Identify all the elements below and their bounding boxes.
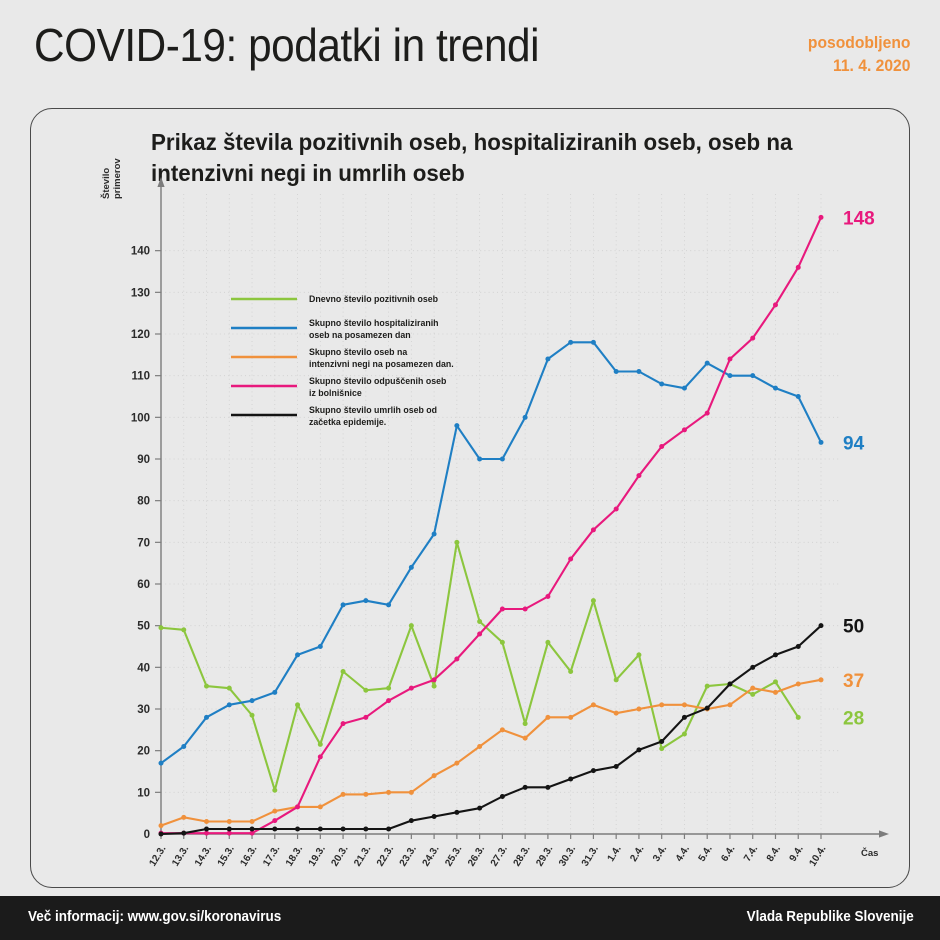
series-point [750, 336, 755, 341]
legend-label-3: Skupno število oseb na [309, 347, 407, 357]
x-tick-label: 12.3. [147, 844, 168, 869]
series-point [477, 619, 482, 624]
series-point [705, 706, 710, 711]
series-point [386, 686, 391, 691]
footer-org: Vlada Republike Slovenije [747, 909, 914, 925]
series-point [363, 715, 368, 720]
page-title: COVID-19: podatki in trendi [34, 18, 539, 72]
chart-area: 010203040506070809010011012013014012.3.1… [31, 109, 911, 889]
series-point [181, 815, 186, 820]
series-point [272, 809, 277, 814]
y-tick-label: 60 [137, 579, 150, 591]
series-end-label-5: 50 [843, 617, 864, 638]
series-point [227, 827, 232, 832]
x-axis-arrow [879, 830, 889, 837]
series-point [318, 742, 323, 747]
legend-label-4-line2: iz bolnišnice [309, 388, 362, 398]
series-point [682, 715, 687, 720]
y-tick-label: 30 [137, 704, 150, 716]
x-tick-label: 1.4. [606, 844, 624, 864]
series-point [705, 411, 710, 416]
x-tick-label: 5.4. [697, 844, 715, 864]
series-point [159, 832, 164, 837]
series-point [386, 698, 391, 703]
series-point [181, 831, 186, 836]
chart-gridlines [161, 194, 841, 834]
series-point [523, 415, 528, 420]
last-updated-date: 11. 4. 2020 [807, 55, 910, 78]
series-point [614, 764, 619, 769]
series-point [545, 640, 550, 645]
series-point [568, 669, 573, 674]
series-3[interactable]: 37 [159, 671, 865, 828]
y-tick-label: 90 [137, 454, 150, 466]
x-tick-label: 22.3. [375, 844, 396, 869]
series-point [363, 688, 368, 693]
chart-legend: Dnevno število pozitivnih osebSkupno šte… [231, 294, 454, 427]
series-point [819, 677, 824, 682]
line-chart: 010203040506070809010011012013014012.3.1… [31, 109, 911, 889]
series-point [272, 690, 277, 695]
series-point [682, 427, 687, 432]
series-point [318, 804, 323, 809]
series-point [227, 819, 232, 824]
y-tick-label: 20 [137, 746, 150, 758]
y-tick-label: 130 [131, 287, 150, 299]
x-tick-label: 20.3. [329, 844, 350, 869]
series-point [568, 715, 573, 720]
x-tick-label: 24.3. [421, 844, 442, 869]
series-point [204, 827, 209, 832]
series-point [409, 790, 414, 795]
series-point [568, 777, 573, 782]
series-point [477, 457, 482, 462]
series-point [591, 702, 596, 707]
series-point [363, 792, 368, 797]
series-point [796, 644, 801, 649]
y-tick-label: 110 [131, 371, 150, 383]
series-point [819, 623, 824, 628]
series-point [773, 679, 778, 684]
x-tick-label: 3.4. [651, 844, 669, 864]
series-point [227, 702, 232, 707]
series-point [454, 657, 459, 662]
legend-item-1[interactable]: Dnevno število pozitivnih oseb [231, 294, 439, 304]
series-point [500, 640, 505, 645]
y-tick-label: 10 [137, 787, 150, 799]
x-tick-label: 28.3. [512, 844, 533, 869]
series-point [295, 652, 300, 657]
series-line-3 [161, 680, 821, 826]
last-updated-label: posodobljeno [807, 32, 910, 55]
series-point [819, 440, 824, 445]
y-tick-label: 40 [137, 662, 150, 674]
series-point [636, 747, 641, 752]
chart-axes: 010203040506070809010011012013014012.3.1… [100, 158, 889, 869]
series-point [819, 215, 824, 220]
series-1[interactable]: 28 [159, 540, 865, 793]
legend-item-2[interactable]: Skupno število hospitaliziranihoseb na p… [231, 318, 439, 340]
chart-series-group: 28943714850 [159, 208, 875, 836]
series-point [250, 713, 255, 718]
series-point [523, 736, 528, 741]
x-tick-label: 21.3. [352, 844, 373, 869]
series-point [432, 677, 437, 682]
series-point [614, 711, 619, 716]
series-point [318, 644, 323, 649]
y-tick-label: 70 [137, 537, 150, 549]
series-point [750, 665, 755, 670]
x-tick-label: 19.3. [307, 844, 328, 869]
legend-item-4[interactable]: Skupno število odpuščenih osebiz bolnišn… [231, 376, 447, 398]
series-point [750, 686, 755, 691]
series-point [750, 692, 755, 697]
series-point [727, 702, 732, 707]
y-axis-label-line2: primerov [112, 158, 123, 199]
x-tick-label: 29.3. [534, 844, 555, 869]
series-point [659, 702, 664, 707]
series-point [386, 827, 391, 832]
series-point [341, 827, 346, 832]
x-tick-label: 25.3. [443, 844, 464, 869]
legend-item-5[interactable]: Skupno število umrlih oseb odzačetka epi… [231, 405, 437, 427]
legend-label-5: Skupno število umrlih oseb od [309, 405, 437, 415]
series-point [454, 761, 459, 766]
series-point [409, 623, 414, 628]
page-header: COVID-19: podatki in trendi posodobljeno… [0, 0, 940, 96]
series-point [545, 594, 550, 599]
legend-label-3-line2: intenzivni negi na posamezen dan. [309, 359, 454, 369]
legend-label-2: Skupno število hospitaliziranih [309, 318, 439, 328]
series-point [523, 721, 528, 726]
series-point [250, 819, 255, 824]
series-point [545, 715, 550, 720]
series-end-label-2: 94 [843, 433, 865, 454]
x-axis-label: Čas [861, 847, 878, 859]
series-point [773, 386, 778, 391]
series-point [659, 739, 664, 744]
series-point [614, 507, 619, 512]
series-point [477, 806, 482, 811]
series-point [636, 369, 641, 374]
series-point [705, 684, 710, 689]
series-point [500, 607, 505, 612]
x-tick-label: 18.3. [284, 844, 305, 869]
x-tick-label: 26.3. [466, 844, 487, 869]
series-point [545, 785, 550, 790]
series-point [545, 357, 550, 362]
series-point [363, 827, 368, 832]
series-point [614, 369, 619, 374]
x-tick-label: 27.3. [489, 844, 510, 869]
series-end-label-3: 37 [843, 671, 864, 692]
legend-label-1: Dnevno število pozitivnih oseb [309, 294, 439, 304]
series-point [727, 682, 732, 687]
series-point [295, 702, 300, 707]
series-point [409, 565, 414, 570]
series-point [682, 702, 687, 707]
series-point [250, 827, 255, 832]
last-updated: posodobljeno 11. 4. 2020 [807, 32, 910, 78]
series-point [204, 819, 209, 824]
x-tick-label: 6.4. [719, 844, 737, 864]
footer-more-info[interactable]: Več informacij: www.gov.si/koronavirus [28, 909, 281, 925]
series-point [682, 732, 687, 737]
series-point [659, 444, 664, 449]
series-point [295, 804, 300, 809]
series-point [454, 423, 459, 428]
series-point [500, 794, 505, 799]
page-footer: Več informacij: www.gov.si/koronavirus V… [0, 896, 940, 940]
x-tick-label: 17.3. [261, 844, 282, 869]
series-4[interactable]: 148 [159, 208, 875, 835]
series-point [454, 540, 459, 545]
x-tick-label: 16.3. [238, 844, 259, 869]
y-tick-label: 140 [131, 246, 150, 258]
series-point [432, 814, 437, 819]
series-point [432, 773, 437, 778]
series-point [432, 684, 437, 689]
x-tick-label: 9.4. [788, 844, 806, 864]
chart-card: Prikaz števila pozitivnih oseb, hospital… [30, 108, 910, 888]
series-point [159, 823, 164, 828]
series-point [591, 768, 596, 773]
y-tick-label: 80 [137, 496, 150, 508]
series-point [727, 373, 732, 378]
y-tick-label: 100 [131, 412, 150, 424]
series-point [159, 625, 164, 630]
x-tick-label: 14.3. [193, 844, 214, 869]
series-point [204, 684, 209, 689]
series-point [591, 527, 596, 532]
series-line-2 [161, 342, 821, 763]
series-point [272, 788, 277, 793]
series-point [477, 632, 482, 637]
series-point [659, 382, 664, 387]
series-point [386, 602, 391, 607]
series-end-label-4: 148 [843, 208, 875, 229]
series-point [318, 827, 323, 832]
series-point [272, 818, 277, 823]
series-point [614, 677, 619, 682]
x-tick-label: 31.3. [580, 844, 601, 869]
legend-item-3[interactable]: Skupno število oseb naintenzivni negi na… [231, 347, 454, 369]
series-point [159, 761, 164, 766]
series-point [796, 265, 801, 270]
series-point [181, 627, 186, 632]
series-point [750, 373, 755, 378]
series-point [272, 827, 277, 832]
series-point [659, 746, 664, 751]
series-point [796, 682, 801, 687]
x-tick-label: 7.4. [742, 844, 760, 864]
series-line-5 [161, 626, 821, 834]
series-point [386, 790, 391, 795]
series-point [363, 598, 368, 603]
series-point [409, 686, 414, 691]
x-tick-label: 30.3. [557, 844, 578, 869]
series-point [477, 744, 482, 749]
series-point [727, 357, 732, 362]
series-point [341, 721, 346, 726]
series-end-label-1: 28 [843, 708, 864, 729]
series-point [773, 302, 778, 307]
series-5[interactable]: 50 [159, 617, 865, 837]
series-point [705, 361, 710, 366]
series-point [591, 598, 596, 603]
series-point [409, 818, 414, 823]
series-point [568, 557, 573, 562]
series-point [568, 340, 573, 345]
x-tick-label: 23.3. [398, 844, 419, 869]
y-axis-arrow [157, 177, 164, 187]
series-point [454, 810, 459, 815]
series-point [341, 669, 346, 674]
x-tick-label: 15.3. [216, 844, 237, 869]
series-point [204, 715, 209, 720]
series-point [432, 532, 437, 537]
series-point [318, 754, 323, 759]
series-point [181, 744, 186, 749]
y-tick-label: 0 [144, 829, 150, 841]
series-point [227, 686, 232, 691]
legend-label-4: Skupno število odpuščenih oseb [309, 376, 447, 386]
x-tick-label: 13.3. [170, 844, 191, 869]
y-tick-label: 50 [137, 621, 150, 633]
series-point [796, 715, 801, 720]
x-tick-label: 8.4. [765, 844, 783, 864]
y-axis-label-line1: Število [100, 168, 112, 199]
series-point [500, 457, 505, 462]
series-point [636, 652, 641, 657]
series-point [796, 394, 801, 399]
series-point [523, 785, 528, 790]
legend-label-2-line2: oseb na posamezen dan [309, 330, 411, 340]
series-point [773, 690, 778, 695]
series-point [523, 607, 528, 612]
series-point [341, 792, 346, 797]
series-point [500, 727, 505, 732]
series-2[interactable]: 94 [159, 340, 865, 766]
series-point [682, 386, 687, 391]
x-tick-label: 4.4. [674, 844, 692, 864]
series-point [341, 602, 346, 607]
series-point [636, 473, 641, 478]
y-tick-label: 120 [131, 329, 150, 341]
series-point [591, 340, 596, 345]
series-point [773, 652, 778, 657]
legend-label-5-line2: začetka epidemije. [309, 417, 386, 427]
series-point [250, 698, 255, 703]
series-point [636, 707, 641, 712]
x-tick-label: 10.4. [807, 844, 828, 869]
x-tick-label: 2.4. [628, 844, 646, 864]
series-point [295, 827, 300, 832]
